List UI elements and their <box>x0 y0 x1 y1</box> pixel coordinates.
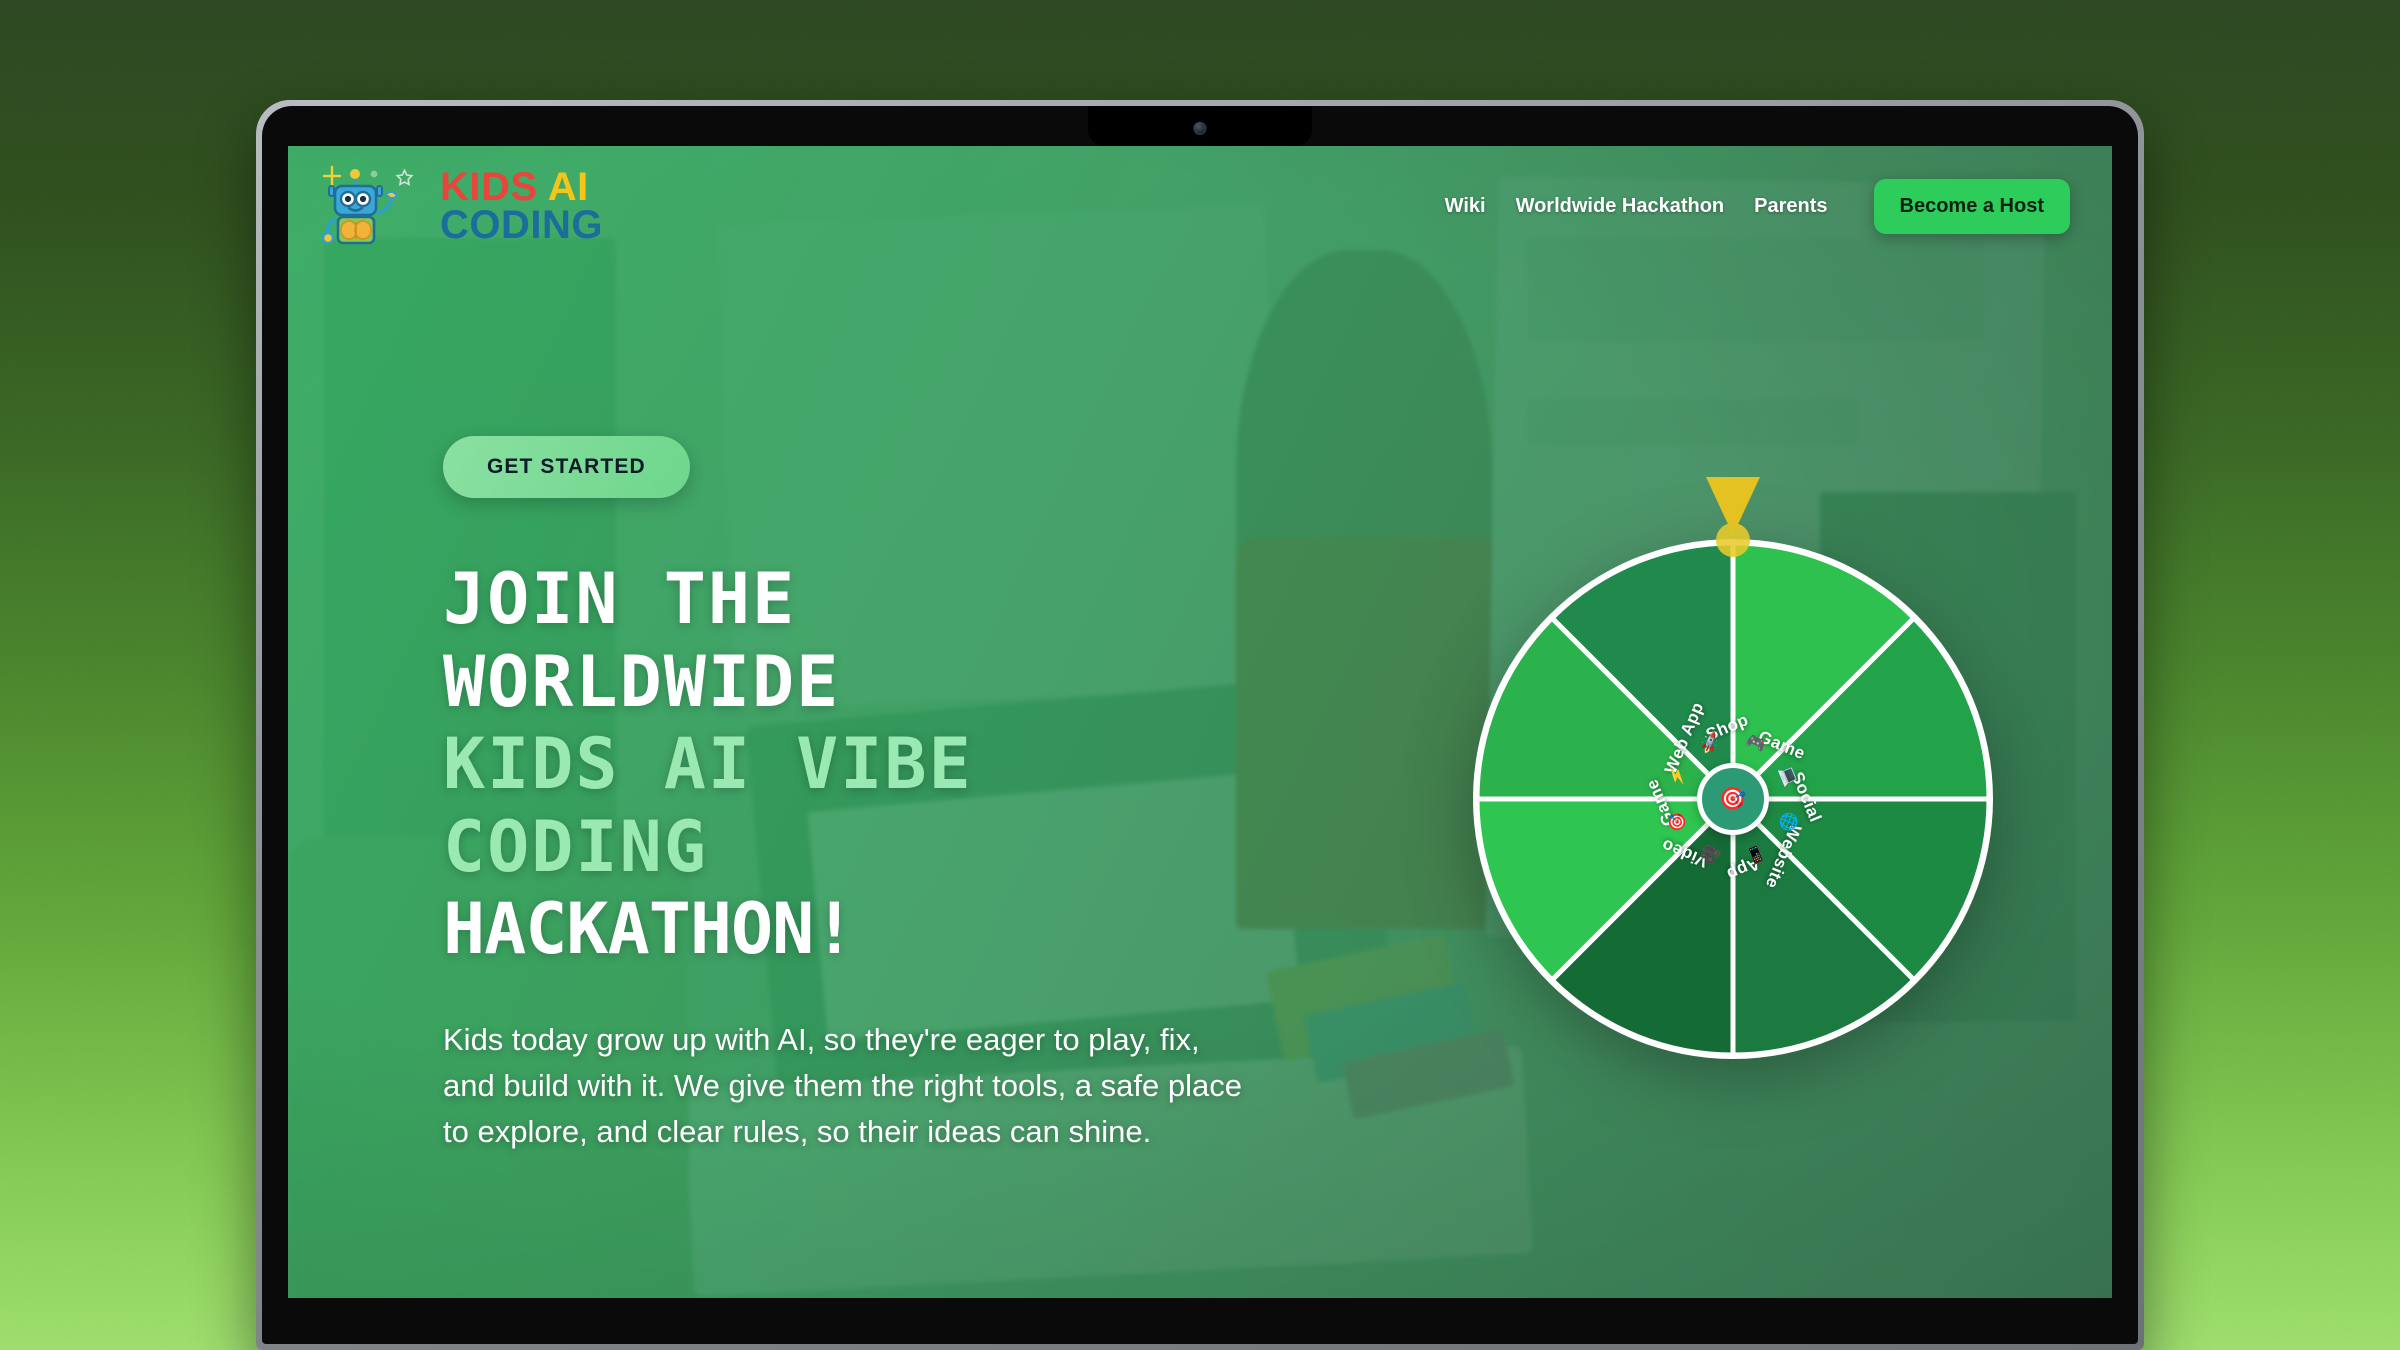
laptop-device: KIDS AI CODING Wiki Worldwide Hackathon … <box>256 100 2144 1350</box>
robot-icon <box>322 160 426 252</box>
lightning-bolt-icon: ⚡ <box>1665 763 1691 789</box>
site-header: KIDS AI CODING Wiki Worldwide Hackathon … <box>288 146 2112 266</box>
globe-icon: 🌐 <box>1775 809 1801 835</box>
wheel-label-video: Video <box>1659 834 1711 871</box>
brand-logo[interactable]: KIDS AI CODING <box>322 160 603 252</box>
wheel-label-app: App <box>1724 853 1763 885</box>
headline-line-5: HACKATHON! <box>443 888 1343 971</box>
brand-ai: AI <box>548 165 589 209</box>
brand-kids: KIDS <box>440 165 538 209</box>
camera-icon <box>1194 122 1207 135</box>
hero-paragraph: Kids today grow up with AI, so they're e… <box>443 1017 1243 1155</box>
rocket-icon: 🚀 <box>1697 731 1723 757</box>
wheel-label-shop: Shop <box>1703 710 1751 745</box>
nav-item-worldwide-hackathon[interactable]: Worldwide Hackathon <box>1516 195 1725 218</box>
mobile-phone-icon: 📱 <box>1743 841 1769 867</box>
brand-wordmark: KIDS AI CODING <box>440 168 603 245</box>
dart-target-icon: 🎯 <box>1719 786 1746 812</box>
nav-item-wiki[interactable]: Wiki <box>1445 195 1486 218</box>
laptop-bezel: KIDS AI CODING Wiki Worldwide Hackathon … <box>262 106 2138 1344</box>
wheel-hub[interactable]: 🎯 <box>1697 763 1769 835</box>
main-navigation: Wiki Worldwide Hackathon Parents Become … <box>1445 179 2070 234</box>
nav-item-parents[interactable]: Parents <box>1754 195 1827 218</box>
laptop-lid: KIDS AI CODING Wiki Worldwide Hackathon … <box>256 100 2144 1350</box>
headline-line-2: WORLDWIDE <box>443 641 1343 724</box>
triangle-pointer-icon <box>1706 477 1760 535</box>
brand-coding: CODING <box>440 206 603 244</box>
headline-line-4: CODING <box>443 806 1343 889</box>
headline-line-3: KIDS AI VIBE <box>443 723 1343 806</box>
hero-section: GET STARTED JOIN THE WORLDWIDE KIDS AI V… <box>443 436 1343 1155</box>
browser-screen: KIDS AI CODING Wiki Worldwide Hackathon … <box>288 146 2112 1298</box>
wheel-label-game: Game <box>1755 727 1808 764</box>
wheel-label-web-app: Web App <box>1661 699 1708 776</box>
wheel-label-website: Website <box>1761 821 1805 891</box>
laptop-icon: 💻 <box>1775 763 1801 789</box>
page-backdrop: KIDS AI CODING Wiki Worldwide Hackathon … <box>0 0 2400 1350</box>
movie-camera-icon: 🎥 <box>1697 841 1723 867</box>
get-started-button[interactable]: GET STARTED <box>443 436 690 498</box>
laptop-notch <box>1088 106 1312 146</box>
wheel-label-social: Social <box>1787 769 1826 825</box>
hero-headline: JOIN THE WORLDWIDE KIDS AI VIBE CODING H… <box>443 558 1343 971</box>
wheel-label-game: Game <box>1642 776 1679 829</box>
dart-target-icon: 🎯 <box>1665 809 1691 835</box>
become-a-host-button[interactable]: Become a Host <box>1874 179 2071 234</box>
headline-line-1: JOIN THE <box>443 558 1343 641</box>
game-controller-icon: 🎮 <box>1743 731 1769 757</box>
spin-wheel[interactable]: Game🎮Social💻Website🌐App📱Video🎥Game🎯Web A… <box>1473 491 1993 1011</box>
